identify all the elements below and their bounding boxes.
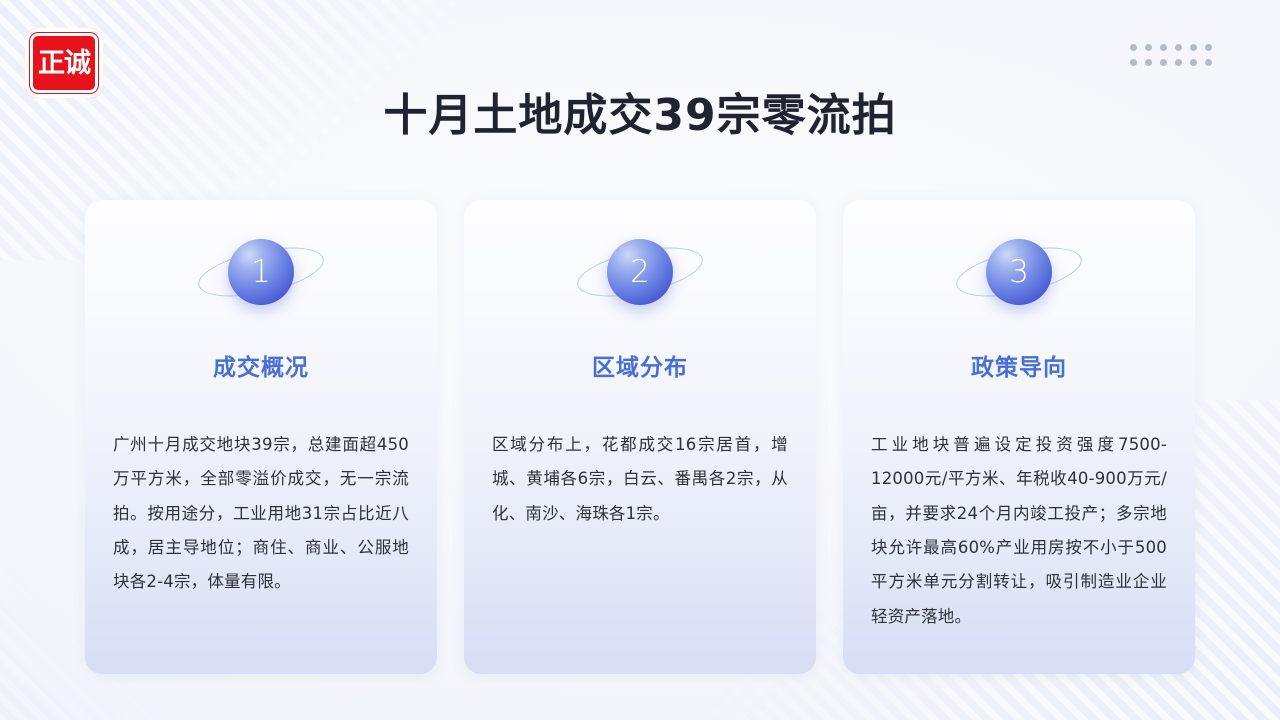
grid-dot bbox=[1130, 44, 1137, 51]
grid-dot bbox=[1190, 44, 1197, 51]
grid-dot bbox=[1205, 44, 1212, 51]
grid-dot bbox=[1190, 59, 1197, 66]
grid-dot bbox=[1145, 59, 1152, 66]
step-badge-3: 3 bbox=[843, 220, 1195, 324]
card-row: 1成交概况广州十月成交地块39宗，总建面超450万平方米，全部零溢价成交，无一宗… bbox=[85, 200, 1195, 674]
card-title: 区域分布 bbox=[464, 348, 816, 382]
grid-dot bbox=[1175, 44, 1182, 51]
info-card-3[interactable]: 3政策导向工业地块普遍设定投资强度7500-12000元/平方米、年税收40-9… bbox=[843, 200, 1195, 674]
card-body-text: 区域分布上，花都成交16宗居首，增城、黄埔各6宗，白云、番禺各2宗，从化、南沙、… bbox=[492, 428, 788, 531]
grid-dot bbox=[1145, 44, 1152, 51]
step-badge-2: 2 bbox=[464, 220, 816, 324]
step-number: 2 bbox=[630, 257, 650, 288]
step-number: 1 bbox=[251, 257, 271, 288]
logo-inner-frame: 正诚 bbox=[30, 33, 99, 93]
card-body-text: 广州十月成交地块39宗，总建面超450万平方米，全部零溢价成交，无一宗流拍。按用… bbox=[113, 428, 409, 600]
grid-dot bbox=[1205, 59, 1212, 66]
info-card-1[interactable]: 1成交概况广州十月成交地块39宗，总建面超450万平方米，全部零溢价成交，无一宗… bbox=[85, 200, 437, 674]
step-number: 3 bbox=[1009, 257, 1029, 288]
card-body-text: 工业地块普遍设定投资强度7500-12000元/平方米、年税收40-900万元/… bbox=[871, 428, 1167, 634]
sphere-icon: 2 bbox=[607, 239, 673, 305]
card-title: 政策导向 bbox=[843, 348, 1195, 382]
logo-plate: 正诚 bbox=[25, 28, 103, 98]
logo-text: 正诚 bbox=[38, 50, 90, 77]
card-title: 成交概况 bbox=[85, 348, 437, 382]
sphere-icon: 3 bbox=[986, 239, 1052, 305]
grid-dot bbox=[1175, 59, 1182, 66]
sphere-icon: 1 bbox=[228, 239, 294, 305]
info-card-2[interactable]: 2区域分布区域分布上，花都成交16宗居首，增城、黄埔各6宗，白云、番禺各2宗，从… bbox=[464, 200, 816, 674]
grid-dot bbox=[1130, 59, 1137, 66]
brand-logo: 正诚 bbox=[25, 28, 103, 98]
grid-dot bbox=[1160, 44, 1167, 51]
dot-grid-decoration bbox=[1130, 44, 1220, 74]
grid-dot bbox=[1160, 59, 1167, 66]
page-title: 十月土地成交39宗零流拍 bbox=[0, 92, 1280, 140]
step-badge-1: 1 bbox=[85, 220, 437, 324]
